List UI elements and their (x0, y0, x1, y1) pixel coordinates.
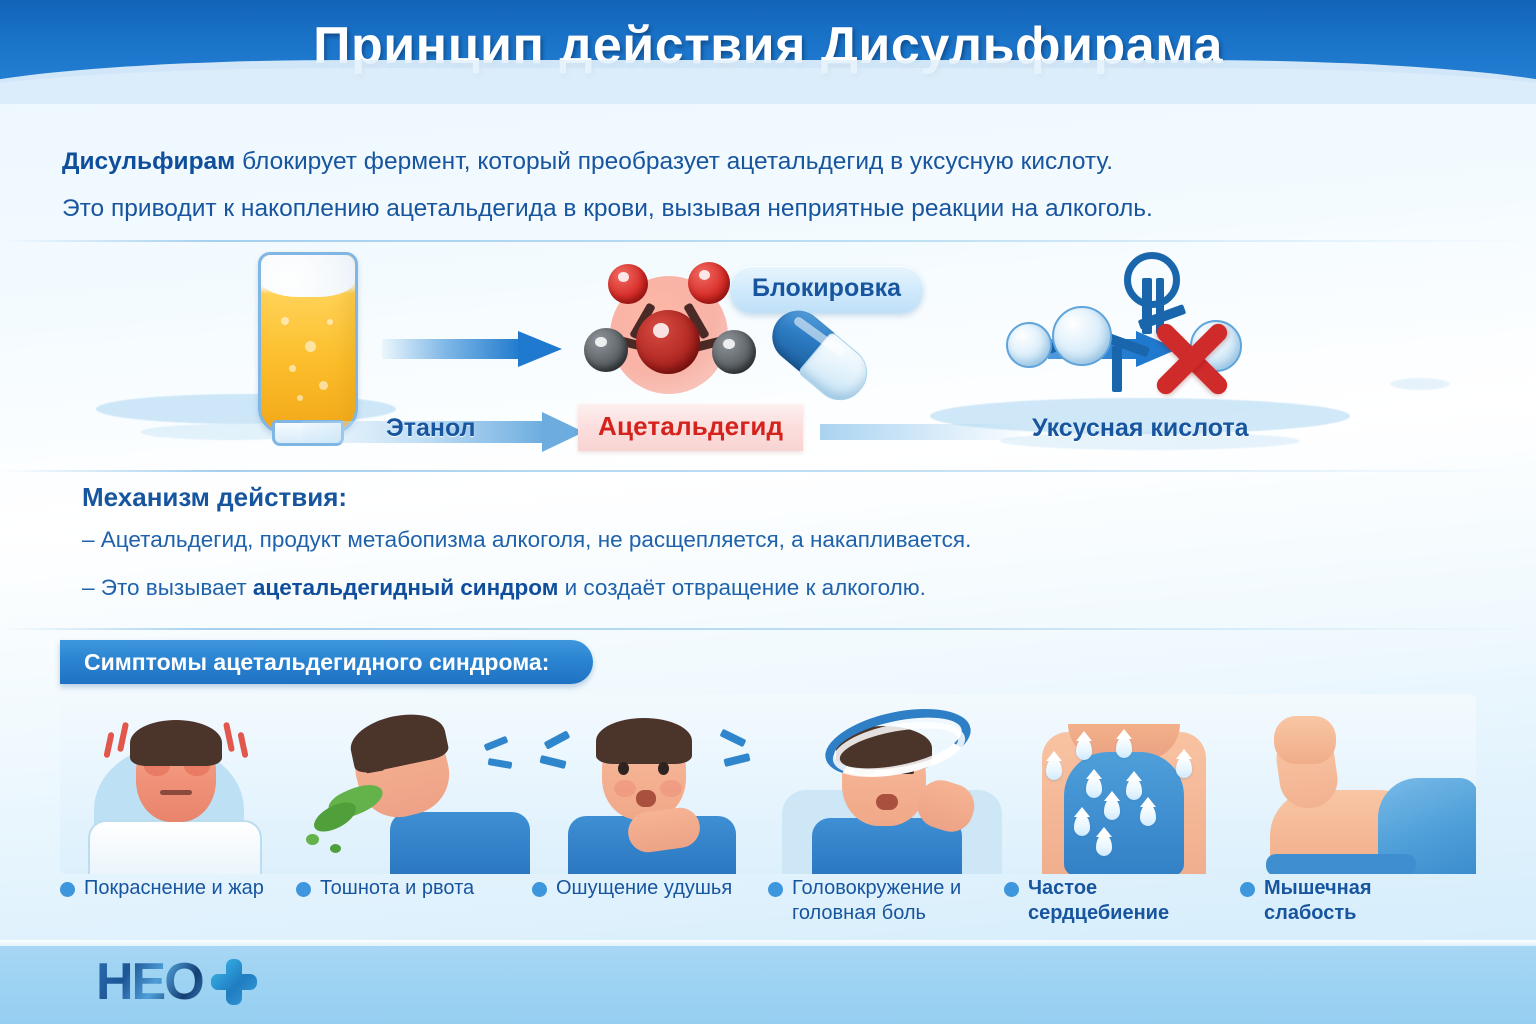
symptom-illustration-2 (296, 694, 532, 874)
symptom-label-4: Головокружение и головная боль (768, 876, 1004, 926)
choking-person-icon (532, 694, 768, 874)
symptom-label-6-text: Мышечная слабость (1264, 876, 1466, 926)
sweating-torso-icon (1004, 694, 1240, 874)
symptom-illustration-4 (768, 694, 1004, 874)
divider-top (0, 240, 1536, 242)
mechanism-item-2-pre: Это вызывает (101, 575, 253, 600)
symptoms-banner: Симптомы ацетальдегидного синдрома: (60, 640, 593, 684)
symptom-label-4-text: Головокружение и головная боль (792, 876, 994, 926)
symptom-illustration-6 (1240, 694, 1476, 874)
symptom-label-3-text: Ошущение удушья (556, 876, 732, 901)
symptom-label-2-text: Тошнота и рвота (320, 876, 474, 901)
mechanism-item-2-post: и создаёт отвращение к алкоголю. (558, 575, 926, 600)
plus-icon (211, 959, 257, 1005)
symptom-illustration-3 (532, 694, 768, 874)
red-cross-icon (1146, 312, 1238, 404)
mechanism-item-1: – Ацетальдегид, продукт метабопизма алко… (82, 527, 1442, 553)
bullet-dot-icon (60, 882, 75, 897)
arrow-right-icon-3 (820, 418, 1040, 448)
page-title: Принцип действия Дисульфирама (0, 16, 1536, 76)
intro-text: Дисульфирам блокирует фермент, который п… (62, 148, 1462, 242)
mechanism-item-1-prefix: – (82, 527, 101, 552)
arrow-right-icon-1 (382, 332, 560, 366)
symptom-label-6: Мышечная слабость (1240, 876, 1476, 926)
mechanism-heading: Механизм действия: (82, 482, 1442, 513)
header-banner: Принцип действия Дисульфирама (0, 0, 1536, 104)
mechanism-item-2: – Это вызывает ацетальдегидный синдром и… (82, 575, 1442, 601)
infographic-poster: Принцип действия Дисульфирама Дисульфира… (0, 0, 1536, 1024)
divider-mechanism (0, 470, 1536, 472)
bullet-dot-icon (532, 882, 547, 897)
mechanism-item-2-bold: ацетальдегидный синдром (253, 575, 558, 600)
acetaldehyde-label: Ацетальдегид (578, 404, 803, 451)
flushed-face-icon (60, 694, 296, 874)
symptom-label-2: Тошнота и рвота (296, 876, 532, 926)
symptom-label-3: Ошущение удушья (532, 876, 768, 926)
block-badge: Блокировка (730, 266, 923, 313)
header-wave-decoration (0, 68, 1536, 104)
bullet-dot-icon (1004, 882, 1019, 897)
flexed-arm-icon (1240, 694, 1476, 874)
reaction-diagram: Этанол Блокировка Ацетальдегид (0, 246, 1536, 468)
symptoms-banner-label: Симптомы ацетальдегидного синдрома: (84, 649, 549, 676)
symptoms-illustrations (60, 694, 1476, 874)
symptom-illustration-1 (60, 694, 296, 874)
symptom-labels: Покраснение и жар Тошнота и рвота Ошущен… (60, 876, 1476, 926)
divider-symptoms (0, 628, 1536, 630)
dizzy-person-icon (768, 694, 1004, 874)
intro-line-1: Дисульфирам блокирует фермент, который п… (62, 148, 1462, 177)
mechanism-section: Механизм действия: – Ацетальдегид, проду… (82, 482, 1442, 623)
bullet-dot-icon (1240, 882, 1255, 897)
symptom-label-5-text: Частое сердцебиение (1028, 876, 1230, 926)
symptom-label-1-text: Покраснение и жар (84, 876, 264, 901)
intro-drug-name: Дисульфирам (62, 148, 235, 175)
symptom-illustration-5 (1004, 694, 1240, 874)
intro-line-2: Это приводит к накоплению ацетальдегида … (62, 195, 1462, 224)
symptom-label-1: Покраснение и жар (60, 876, 296, 926)
vomiting-person-icon (296, 694, 532, 874)
brand-logo-text: НЕО (96, 952, 203, 1012)
ethanol-label: Этанол (386, 414, 476, 443)
acetic-acid-molecule-icon (996, 260, 1276, 410)
intro-line-1-rest: блокирует фермент, который преобразует а… (235, 148, 1113, 175)
symptom-label-5: Частое сердцебиение (1004, 876, 1240, 926)
mechanism-item-1-text: Ацетальдегид, продукт метабопизма алкого… (101, 527, 972, 552)
bullet-dot-icon (768, 882, 783, 897)
capsule-pill-icon (762, 300, 877, 408)
brand-logo: НЕО (96, 952, 257, 1012)
mechanism-item-2-prefix: – (82, 575, 101, 600)
bullet-dot-icon (296, 882, 311, 897)
acetic-acid-label: Уксусная кислота (1032, 414, 1249, 443)
